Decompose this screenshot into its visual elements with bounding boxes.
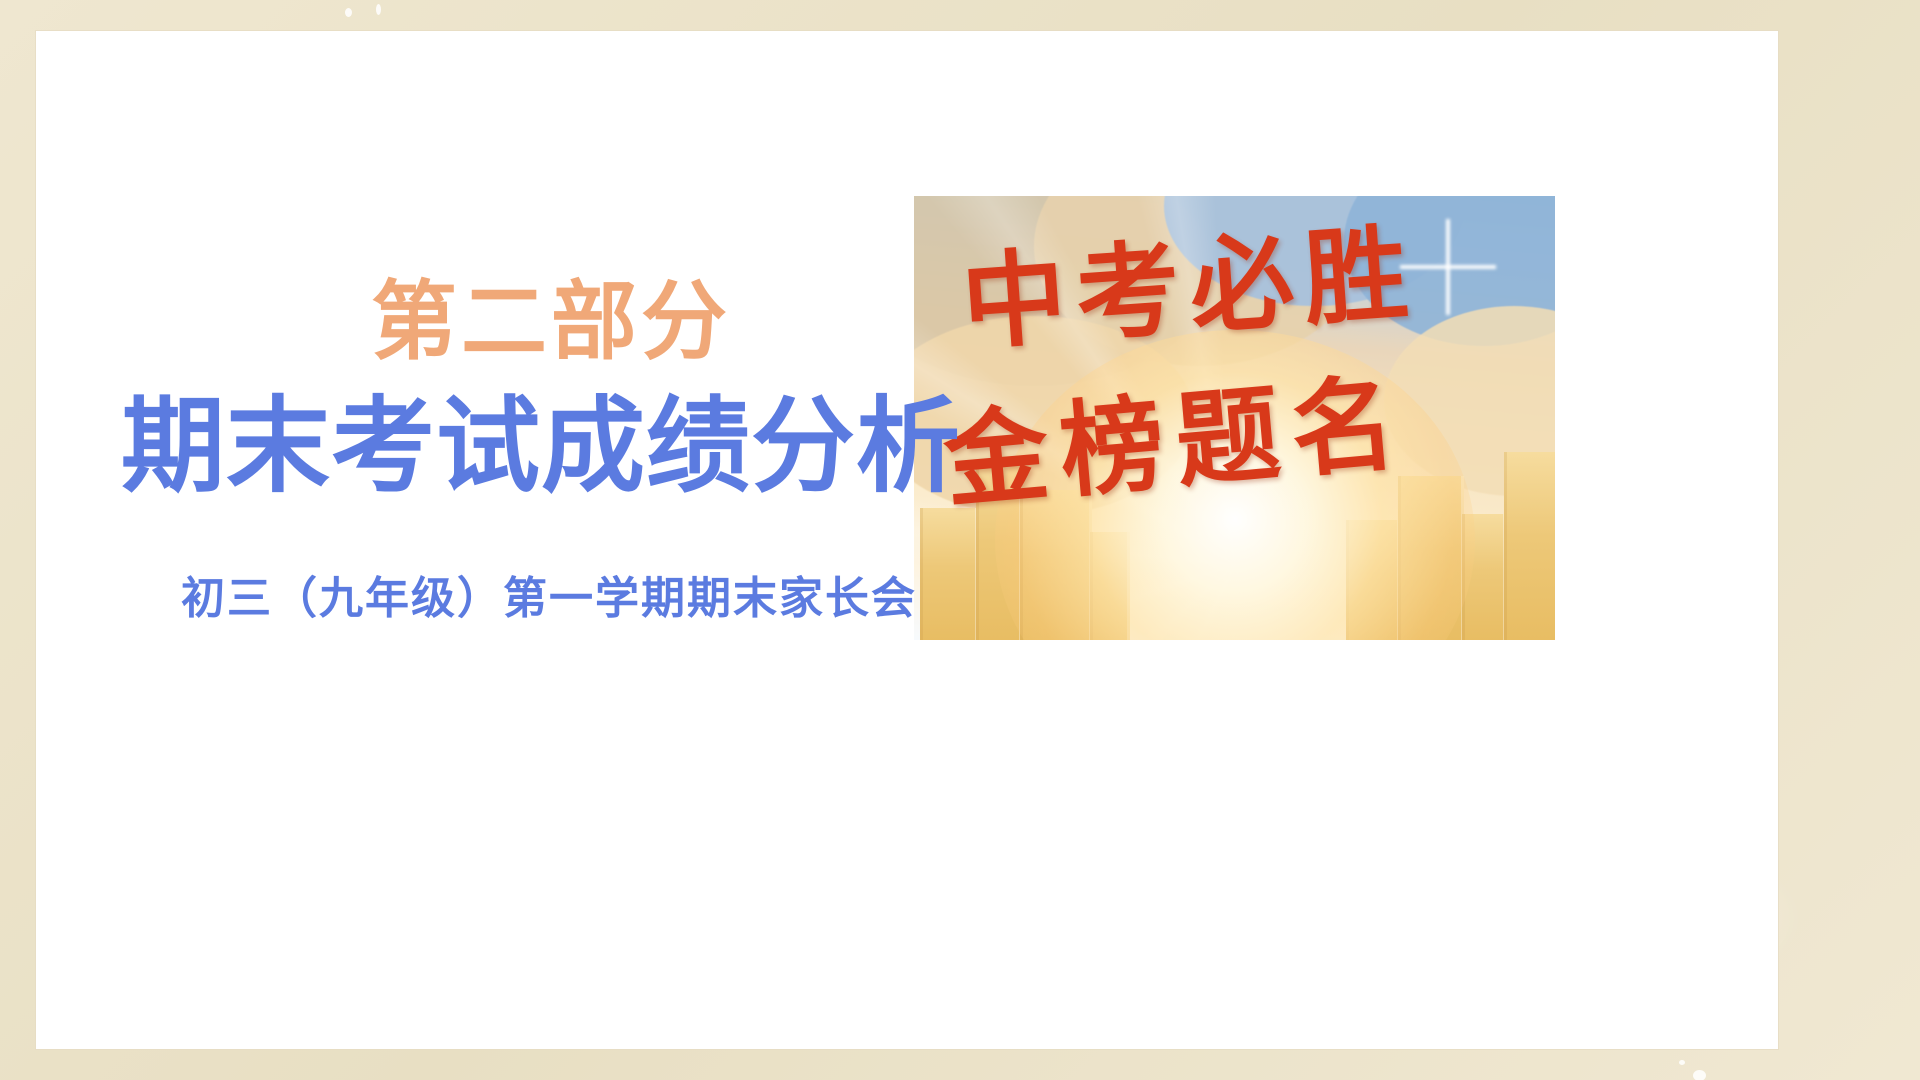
part-label: 第二部分 — [36, 279, 1046, 365]
paper-fleck — [345, 8, 352, 17]
title-text-block: 第二部分 期末考试成绩分析 初三（九年级）第一学期期末家长会 — [36, 279, 1046, 624]
paper-fleck — [376, 4, 381, 15]
page-title: 期末考试成绩分析 — [36, 391, 1046, 503]
paper-fleck — [1679, 1060, 1685, 1065]
slide-canvas: 中考必胜 金榜题名 第二部分 期末考试成绩分析 初三（九年级）第一学期期末家长会 — [36, 31, 1778, 1049]
slide-root: 中考必胜 金榜题名 第二部分 期末考试成绩分析 初三（九年级）第一学期期末家长会 — [0, 0, 1920, 1080]
page-subtitle: 初三（九年级）第一学期期末家长会 — [36, 575, 1046, 623]
paper-fleck — [1693, 1070, 1706, 1080]
